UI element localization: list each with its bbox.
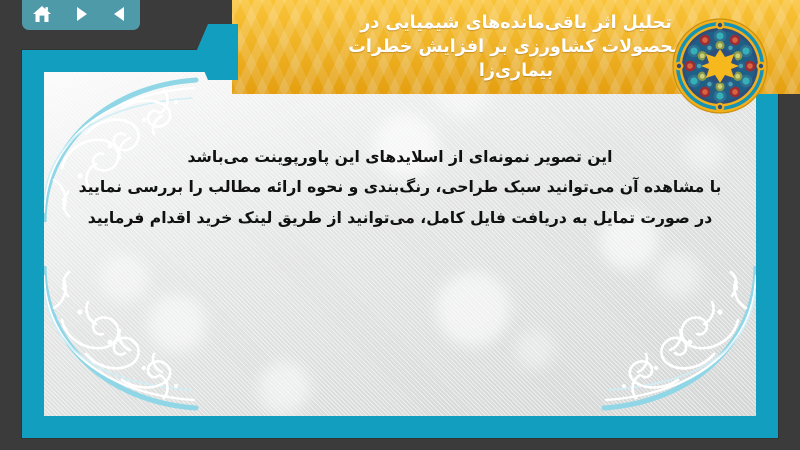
slide-canvas: این تصویر نمونه‌ای از اسلایدهای این پاور… xyxy=(0,0,800,450)
title-line: محصولات کشاورزی بر افزایش خطرات xyxy=(348,36,684,60)
title-line: تحلیل اثر باقی‌مانده‌های شیمیایی در xyxy=(360,12,672,36)
content-area: این تصویر نمونه‌ای از اسلایدهای این پاور… xyxy=(44,72,756,416)
persian-mandala-medallion-icon xyxy=(672,18,768,114)
title-line: بیماری‌زا xyxy=(479,60,553,84)
bokeh-circle xyxy=(436,272,510,346)
bokeh-circle xyxy=(258,362,310,414)
bokeh-circle xyxy=(148,294,206,352)
navigation-bar xyxy=(22,0,140,30)
body-line: در صورت تمایل به دریافت فایل کامل، می‌تو… xyxy=(78,203,722,233)
bokeh-circle xyxy=(656,254,700,298)
forward-button[interactable] xyxy=(68,2,94,26)
home-button[interactable] xyxy=(29,2,55,26)
bokeh-circle xyxy=(514,330,554,370)
forward-triangle-icon xyxy=(71,4,91,24)
body-text-block: این تصویر نمونه‌ای از اسلایدهای این پاور… xyxy=(44,142,756,233)
home-icon xyxy=(31,4,53,24)
banner-arrow-tab xyxy=(196,24,238,80)
back-triangle-icon xyxy=(110,4,130,24)
back-button[interactable] xyxy=(107,2,133,26)
body-line: این تصویر نمونه‌ای از اسلایدهای این پاور… xyxy=(78,142,722,172)
bokeh-circle xyxy=(100,254,148,302)
content-frame: این تصویر نمونه‌ای از اسلایدهای این پاور… xyxy=(22,50,778,438)
body-line: با مشاهده آن می‌توانید سبک طراحی، رنگ‌بن… xyxy=(78,172,722,202)
